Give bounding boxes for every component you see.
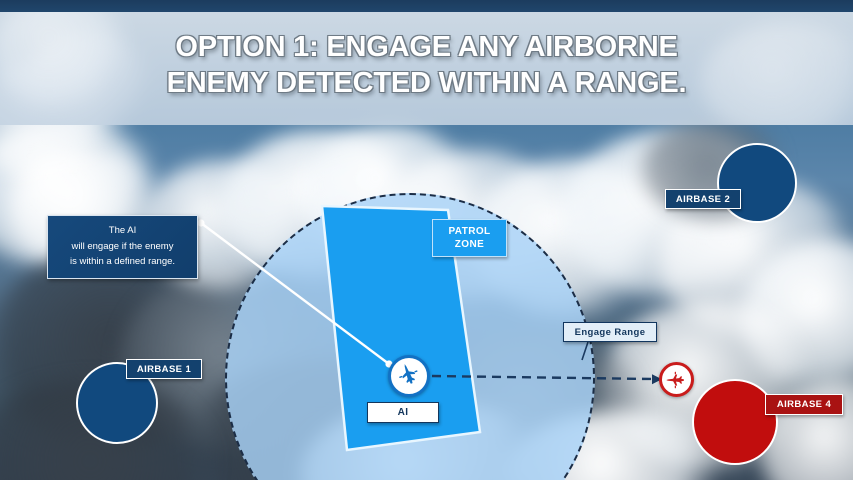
top-accent-strip <box>0 0 853 12</box>
patrol-zone-label: PATROL ZONE <box>432 219 507 257</box>
enemy-jet-marker[interactable] <box>659 362 694 397</box>
title-banner: OPTION 1: ENGAGE ANY AIRBORNE ENEMY DETE… <box>0 12 853 125</box>
ai-jet-marker[interactable] <box>388 355 430 397</box>
fighter-jet-icon <box>665 368 689 392</box>
airbase-1-label: AIRBASE 1 <box>126 359 202 379</box>
airbase-2-label: AIRBASE 2 <box>665 189 741 209</box>
ai-label: AI <box>367 402 439 423</box>
airbase-4-marker[interactable] <box>692 379 778 465</box>
fighter-jet-icon <box>395 362 423 390</box>
slide-title: OPTION 1: ENGAGE ANY AIRBORNE ENEMY DETE… <box>0 30 853 102</box>
engage-range-label: Engage Range <box>563 322 657 342</box>
airbase-4-label: AIRBASE 4 <box>765 394 843 415</box>
ai-behaviour-callout: The AI will engage if the enemy is withi… <box>47 215 198 279</box>
slide-canvas: The AI will engage if the enemy is withi… <box>0 0 853 480</box>
airbase-2-marker[interactable] <box>717 143 797 223</box>
